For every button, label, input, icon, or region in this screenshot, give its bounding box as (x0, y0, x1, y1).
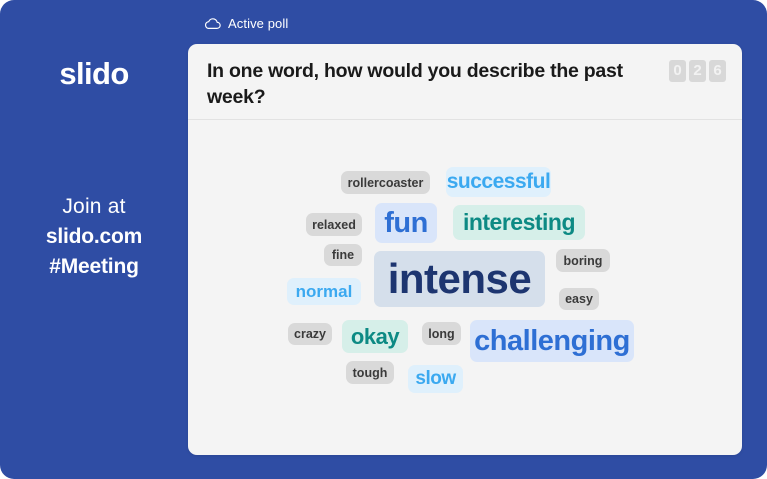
join-url-label: slido.com (0, 222, 188, 252)
join-at-label: Join at (0, 192, 188, 222)
poll-question: In one word, how would you describe the … (207, 58, 659, 110)
vote-counter-digit-2: 6 (709, 60, 726, 82)
word-cloud-item: normal (287, 278, 361, 305)
word-cloud-item: rollercoaster (341, 171, 430, 194)
slido-logo: slido (0, 56, 188, 92)
word-cloud-item: tough (346, 361, 394, 384)
word-cloud-item: intense (374, 251, 545, 307)
branding-sidebar: slido Join at slido.com #Meeting (0, 0, 188, 479)
join-instructions: Join at slido.com #Meeting (0, 192, 188, 282)
cloud-icon (204, 17, 221, 30)
word-cloud-item: successful (446, 167, 551, 197)
screenshot-stage: slido Join at slido.com #Meeting Active … (0, 0, 767, 479)
word-cloud-item: boring (556, 249, 610, 272)
word-cloud-item: slow (408, 365, 463, 393)
word-cloud-item: fun (375, 203, 437, 243)
poll-card-header: In one word, how would you describe the … (188, 44, 742, 120)
active-poll-status: Active poll (204, 13, 288, 33)
word-cloud-item: crazy (288, 323, 332, 345)
word-cloud-item: interesting (453, 205, 585, 240)
vote-counter: 026 (669, 60, 726, 82)
word-cloud-item: okay (342, 320, 408, 353)
active-poll-label: Active poll (228, 16, 288, 31)
word-cloud-item: challenging (470, 320, 634, 362)
poll-card: In one word, how would you describe the … (188, 44, 742, 455)
vote-counter-digit-1: 2 (689, 60, 706, 82)
vote-counter-digit-0: 0 (669, 60, 686, 82)
join-hashtag-label: #Meeting (0, 252, 188, 282)
word-cloud: rollercoastersuccessfulrelaxedfuninteres… (188, 120, 742, 454)
word-cloud-item: easy (559, 288, 599, 310)
word-cloud-item: long (422, 322, 461, 345)
word-cloud-item: fine (324, 244, 362, 266)
presentation-frame: slido Join at slido.com #Meeting Active … (0, 0, 767, 479)
word-cloud-item: relaxed (306, 213, 362, 236)
